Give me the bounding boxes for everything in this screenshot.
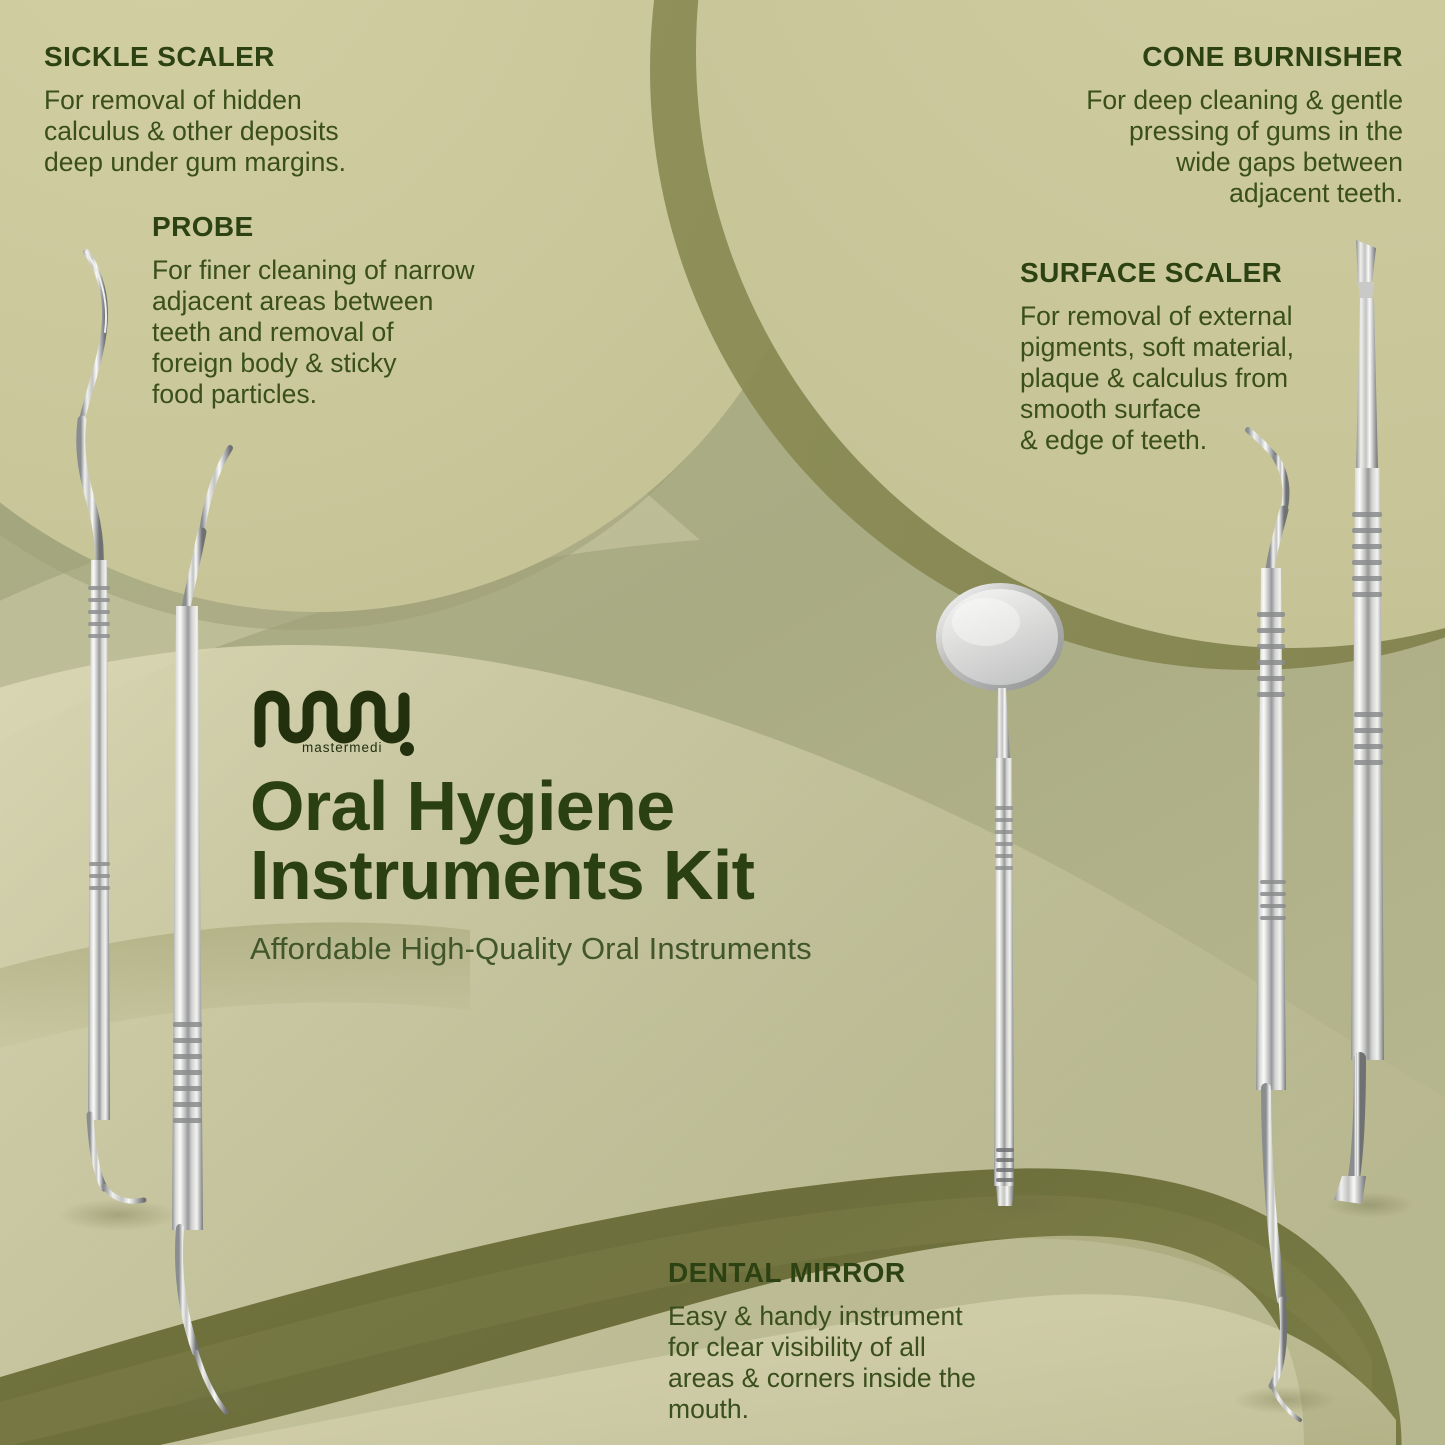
callout-body-cone-burnisher: For deep cleaning & gentle pressing of g…	[1086, 85, 1403, 209]
callout-body-dental-mirror: Easy & handy instrument for clear visibi…	[668, 1301, 976, 1425]
callout-line: For removal of hidden	[44, 85, 346, 116]
callout-heading-dental-mirror: DENTAL MIRROR	[668, 1258, 976, 1289]
callout-heading-cone-burnisher: CONE BURNISHER	[1086, 42, 1403, 73]
callout-heading-surface-scaler: SURFACE SCALER	[1020, 258, 1294, 289]
page-title: Oral Hygiene Instruments Kit	[250, 772, 812, 909]
callout-line: For finer cleaning of narrow	[152, 255, 475, 286]
callout-surface-scaler: SURFACE SCALER For removal of external p…	[1020, 258, 1294, 456]
callout-line: foreign body & sticky	[152, 348, 475, 379]
callout-line: adjacent teeth.	[1086, 178, 1403, 209]
callout-line: calculus & other deposits	[44, 116, 346, 147]
surface-scaler-instrument	[1248, 430, 1300, 1420]
title-line-2: Instruments Kit	[250, 841, 812, 910]
callout-heading-sickle-scaler: SICKLE SCALER	[44, 42, 346, 73]
callout-line: smooth surface	[1020, 394, 1294, 425]
callout-body-surface-scaler: For removal of external pigments, soft m…	[1020, 301, 1294, 456]
callout-line: food particles.	[152, 379, 475, 410]
dental-mirror-instrument	[936, 583, 1064, 1206]
brand-wordmark: mastermedi	[302, 740, 383, 755]
callout-line: mouth.	[668, 1394, 976, 1425]
callout-line: For deep cleaning & gentle	[1086, 85, 1403, 116]
callout-dental-mirror: DENTAL MIRROR Easy & handy instrument fo…	[668, 1258, 976, 1425]
callout-line: pigments, soft material,	[1020, 332, 1294, 363]
mastermedi-wave-logo: mastermedi	[250, 686, 418, 748]
callout-line: teeth and removal of	[152, 317, 475, 348]
callout-body-sickle-scaler: For removal of hidden calculus & other d…	[44, 85, 346, 178]
callout-line: areas & corners inside the	[668, 1363, 976, 1394]
callout-line: Easy & handy instrument	[668, 1301, 976, 1332]
callout-line: for clear visibility of all	[668, 1332, 976, 1363]
probe-instrument	[172, 448, 230, 1412]
callout-sickle-scaler: SICKLE SCALER For removal of hidden calc…	[44, 42, 346, 178]
callout-line: wide gaps between	[1086, 147, 1403, 178]
callout-cone-burnisher: CONE BURNISHER For deep cleaning & gentl…	[1086, 42, 1403, 209]
callout-heading-probe: PROBE	[152, 212, 475, 243]
title-line-1: Oral Hygiene	[250, 772, 812, 841]
callout-line: For removal of external	[1020, 301, 1294, 332]
page-subtitle: Affordable High-Quality Oral Instruments	[250, 931, 812, 967]
callout-probe: PROBE For finer cleaning of narrow adjac…	[152, 212, 475, 410]
callout-line: plaque & calculus from	[1020, 363, 1294, 394]
brand-lockup: mastermedi Oral Hygiene Instruments Kit …	[250, 686, 812, 967]
infographic-canvas: SICKLE SCALER For removal of hidden calc…	[0, 0, 1445, 1445]
callout-line: & edge of teeth.	[1020, 425, 1294, 456]
cone-burnisher-instrument	[1334, 240, 1384, 1204]
callout-body-probe: For finer cleaning of narrow adjacent ar…	[152, 255, 475, 410]
wave-logo-icon	[250, 686, 418, 748]
brand-dot-icon	[400, 742, 414, 756]
callout-line: adjacent areas between	[152, 286, 475, 317]
callout-line: deep under gum margins.	[44, 147, 346, 178]
sickle-scaler-instrument	[81, 252, 144, 1201]
callout-line: pressing of gums in the	[1086, 116, 1403, 147]
